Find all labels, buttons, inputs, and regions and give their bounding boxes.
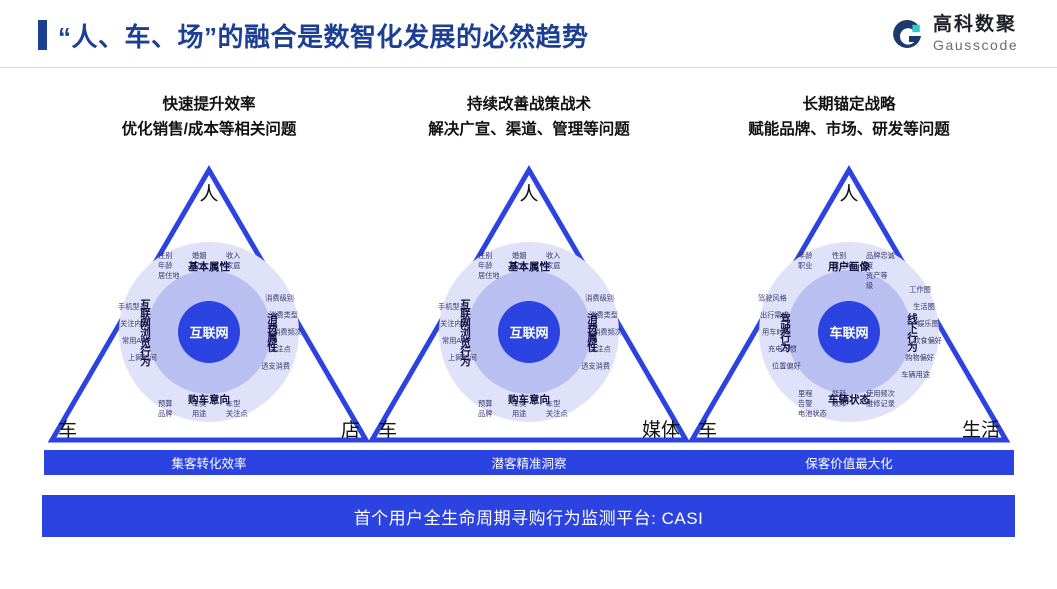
ring-left-label-2: 互联网浏览行为: [458, 299, 473, 366]
ring-top-label-1: 基本属性: [188, 259, 230, 274]
attr: 居住地: [158, 271, 192, 281]
attr: 资产等: [866, 271, 900, 281]
header-divider: [0, 67, 1057, 68]
triangle-1-bottom-right-label: 店: [341, 420, 360, 442]
ring-right-label-1: 消费属性: [265, 313, 280, 351]
attr: 透支消费: [255, 358, 302, 375]
venn-stack-1: 互联网 基本属性 购车意向 互联网浏览行为 消费属性 性别婚姻收入 年龄职业家庭…: [114, 237, 304, 427]
attr: 驾驶风格: [758, 290, 801, 307]
attr: 位置偏好: [758, 358, 801, 375]
ring-right-label-2: 消费属性: [585, 313, 600, 351]
attr: 居住地: [478, 271, 512, 281]
attr: 消费级别: [255, 290, 302, 307]
attr: 维修记录: [866, 399, 900, 409]
attr: 级: [866, 281, 900, 291]
triangle-2-bottom-left-label: 车: [378, 420, 397, 442]
attr: 用途: [512, 409, 546, 419]
attr: 车型: [226, 399, 260, 409]
triangle-3-bottom-left-label: 车: [698, 420, 717, 442]
page-header: “人、车、场”的融合是数智化发展的必然趋势 高科数聚 Gausscode: [0, 0, 1057, 68]
attr: 收入: [226, 251, 260, 261]
attr: 度: [866, 261, 900, 271]
page-title: “人、车、场”的融合是数智化发展的必然趋势: [58, 17, 589, 54]
triangle-2-bottom-right-label: 媒体: [642, 420, 680, 442]
ring-left-label-1: 互联网浏览行为: [138, 299, 153, 366]
triangle-2: 人 车 媒体 互联网 基本属性 购车意向 互联网浏览行为 消费属性 性别婚姻收入…: [364, 160, 694, 448]
attr: 车辆用途: [899, 366, 942, 383]
ring-left-label-3: 驾驶行为: [778, 313, 793, 351]
column-heading-3: 长期锚定战略 赋能品牌、市场、研发等问题: [684, 92, 1014, 142]
attr: 职业: [798, 261, 832, 271]
footer-banner: 首个用户全生命周期寻购行为监测平台: CASI: [42, 495, 1015, 537]
column-heading-1-line2: 优化销售/成本等相关问题: [44, 117, 374, 142]
outcome-bar-2: 潜客精准洞察: [364, 450, 694, 475]
attr: 预算: [478, 399, 512, 409]
venn-stack-3: 车联网 用户画像 车辆状态 驾驶行为 线下行为 年龄性别品牌忠诚 职业居住地度 …: [754, 237, 944, 427]
venn-stack-2: 互联网 基本属性 购车意向 互联网浏览行为 消费属性 性别婚姻收入 年龄职业家庭…: [434, 237, 624, 427]
triangle-1: 人 车 店 互联网 基本属性 购车意向 互联网浏览行为 消费属性 性别婚姻收入 …: [44, 160, 374, 448]
triangle-3-bottom-right-label: 生活: [962, 420, 1000, 442]
column-heading-3-line2: 赋能品牌、市场、研发等问题: [684, 117, 1014, 142]
attr: 品牌: [478, 409, 512, 419]
attr: 家庭: [226, 261, 260, 271]
attr: 关注点: [226, 409, 260, 419]
triangle-1-bottom-left-label: 车: [58, 420, 77, 442]
brand-logo: 高科数聚 Gausscode: [889, 14, 1039, 60]
logo-text: 高科数聚 Gausscode: [933, 14, 1039, 54]
core-label-1: 互联网: [189, 323, 228, 342]
attr: 关注点: [546, 409, 580, 419]
attr: 告警: [798, 399, 832, 409]
ring-bottom-label-1: 购车意向: [188, 392, 230, 407]
ring-top-label-3: 用户画像: [828, 259, 870, 274]
attr: 消费级别: [575, 290, 622, 307]
attr: 车型: [546, 399, 580, 409]
column-heading-1: 快速提升效率 优化销售/成本等相关问题: [44, 92, 374, 142]
diagram-panel-3: 人 车 生活 车联网 用户画像 车辆状态 驾驶行为 线下行为 年龄性别品牌忠诚 …: [684, 160, 1014, 480]
column-heading-3-line1: 长期锚定战略: [802, 96, 895, 113]
attr: 用途: [192, 409, 226, 419]
outcome-bar-3: 保客价值最大化: [684, 450, 1014, 475]
attr: 性别: [158, 251, 192, 261]
attr: 年龄: [478, 261, 512, 271]
core-label-3: 车联网: [829, 323, 868, 342]
column-heading-2-line1: 持续改善战策战术: [467, 96, 591, 113]
ring-bottom-label-3: 车辆状态: [828, 392, 870, 407]
attr: 品牌忠诚: [866, 251, 900, 261]
column-headings: 快速提升效率 优化销售/成本等相关问题 持续改善战策战术 解决广宣、渠道、管理等…: [0, 92, 1057, 150]
diagram-panel-1: 人 车 店 互联网 基本属性 购车意向 互联网浏览行为 消费属性 性别婚姻收入 …: [44, 160, 374, 480]
attr: 购物偏好: [899, 349, 942, 366]
column-heading-1-line1: 快速提升效率: [162, 96, 255, 113]
attr: 工作圈: [899, 281, 942, 298]
diagram-panel-2: 人 车 媒体 互联网 基本属性 购车意向 互联网浏览行为 消费属性 性别婚姻收入…: [364, 160, 694, 480]
triangle-2-apex-label: 人: [519, 184, 538, 206]
attr: 性别: [478, 251, 512, 261]
attr: 电池状态: [798, 409, 832, 419]
ring-bottom-label-2: 购车意向: [508, 392, 550, 407]
attr: 里程: [798, 389, 832, 399]
title-accent-tick: [38, 20, 47, 50]
triangle-3: 人 车 生活 车联网 用户画像 车辆状态 驾驶行为 线下行为 年龄性别品牌忠诚 …: [684, 160, 1014, 448]
attr: 年龄: [158, 261, 192, 271]
attr: 收入: [546, 251, 580, 261]
logo-text-en: Gausscode: [933, 36, 1039, 54]
outcome-bar-1: 集客转化效率: [44, 450, 374, 475]
attr: 家庭: [546, 261, 580, 271]
attr: 年龄: [798, 251, 832, 261]
logo-mark-icon: [889, 18, 925, 54]
logo-text-cn: 高科数聚: [933, 14, 1039, 36]
attr: 透支消费: [575, 358, 622, 375]
ring-top-label-2: 基本属性: [508, 259, 550, 274]
attr: 使用频次: [866, 389, 900, 399]
triangle-1-apex-label: 人: [199, 184, 218, 206]
ring-right-label-3: 线下行为: [905, 313, 920, 351]
column-heading-2-line2: 解决广宣、渠道、管理等问题: [364, 117, 694, 142]
attr: 预算: [158, 399, 192, 409]
attr: 品牌: [158, 409, 192, 419]
column-heading-2: 持续改善战策战术 解决广宣、渠道、管理等问题: [364, 92, 694, 142]
core-label-2: 互联网: [509, 323, 548, 342]
triangle-3-apex-label: 人: [839, 184, 858, 206]
